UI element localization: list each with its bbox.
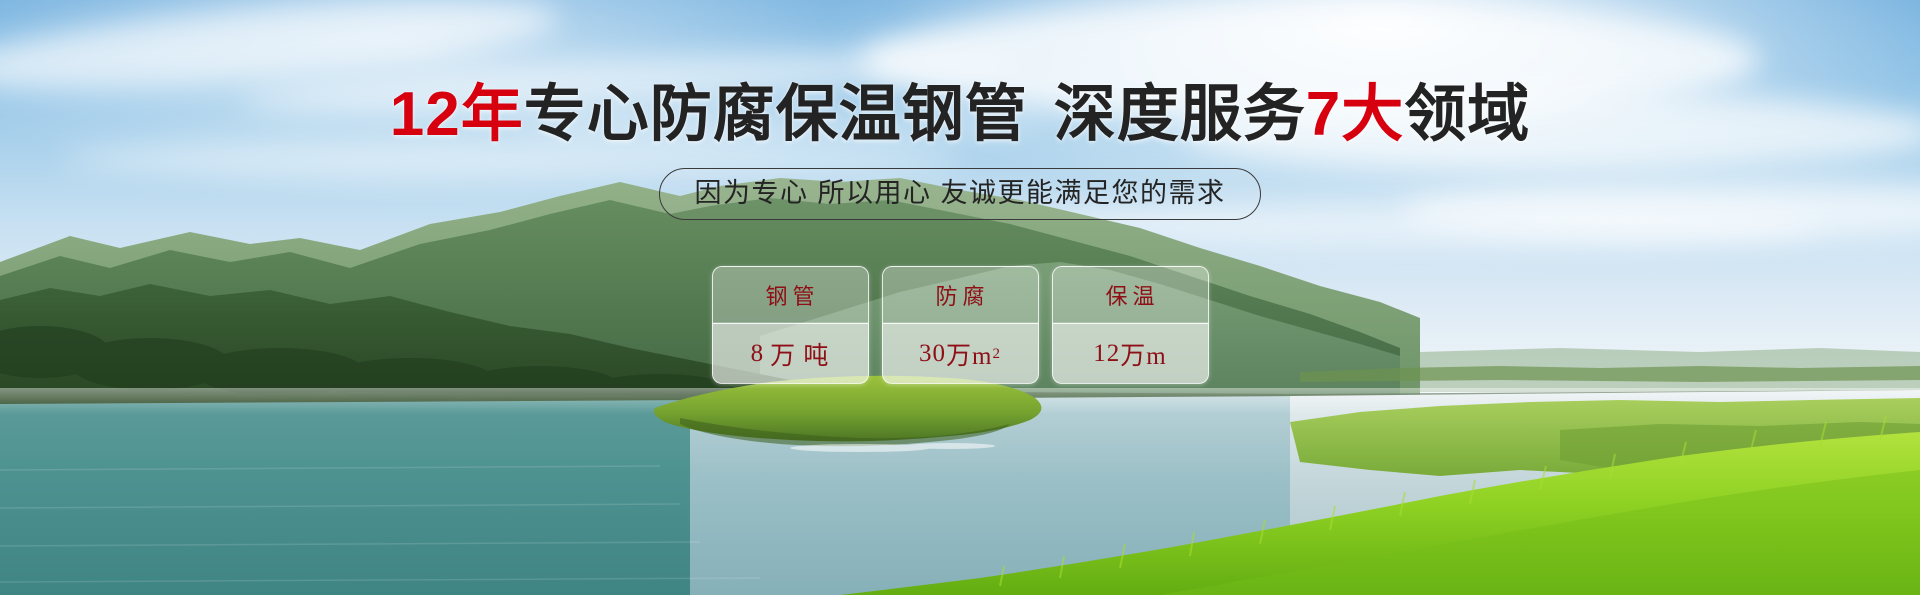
stat-card-value: 12万m <box>1053 324 1208 383</box>
promo-banner: 12年专心防腐保温钢管深度服务7大领域 因为专心 所以用心 友诚更能满足您的需求… <box>0 0 1920 595</box>
stat-value-unit: 万 吨 <box>770 336 829 372</box>
stat-card-label: 防腐 <box>883 267 1038 324</box>
stat-value-number: 12 <box>1093 340 1120 368</box>
subtitle-container: 因为专心 所以用心 友诚更能满足您的需求 <box>0 168 1920 220</box>
stat-card-row: 钢管 8 万 吨 防腐 30万m2 保温 12万m <box>0 266 1920 384</box>
headline-fields: 领域 <box>1404 80 1530 149</box>
stat-card-steel-pipe: 钢管 8 万 吨 <box>712 266 869 384</box>
stat-card-value: 30万m2 <box>883 324 1038 383</box>
lake-water-left <box>0 400 700 595</box>
headline: 12年专心防腐保温钢管深度服务7大领域 <box>0 84 1920 146</box>
stat-card-label: 钢管 <box>713 267 868 324</box>
stat-card-label: 保温 <box>1053 267 1208 324</box>
stat-card-anticorrosion: 防腐 30万m2 <box>882 266 1039 384</box>
headline-service: 深度服务 <box>1054 80 1306 149</box>
stat-value-unit: 万m <box>946 336 992 372</box>
stat-value-number: 8 <box>751 340 765 368</box>
headline-main: 专心防腐保温钢管 <box>524 80 1028 149</box>
stat-value-unit: 万m <box>1120 336 1166 372</box>
headline-seven: 7大 <box>1306 80 1404 149</box>
stat-card-insulation: 保温 12万m <box>1052 266 1209 384</box>
subtitle-pill: 因为专心 所以用心 友诚更能满足您的需求 <box>659 168 1260 220</box>
stat-card-value: 8 万 吨 <box>713 324 868 383</box>
headline-years: 12年 <box>390 80 524 149</box>
stat-value-number: 30 <box>919 340 946 368</box>
